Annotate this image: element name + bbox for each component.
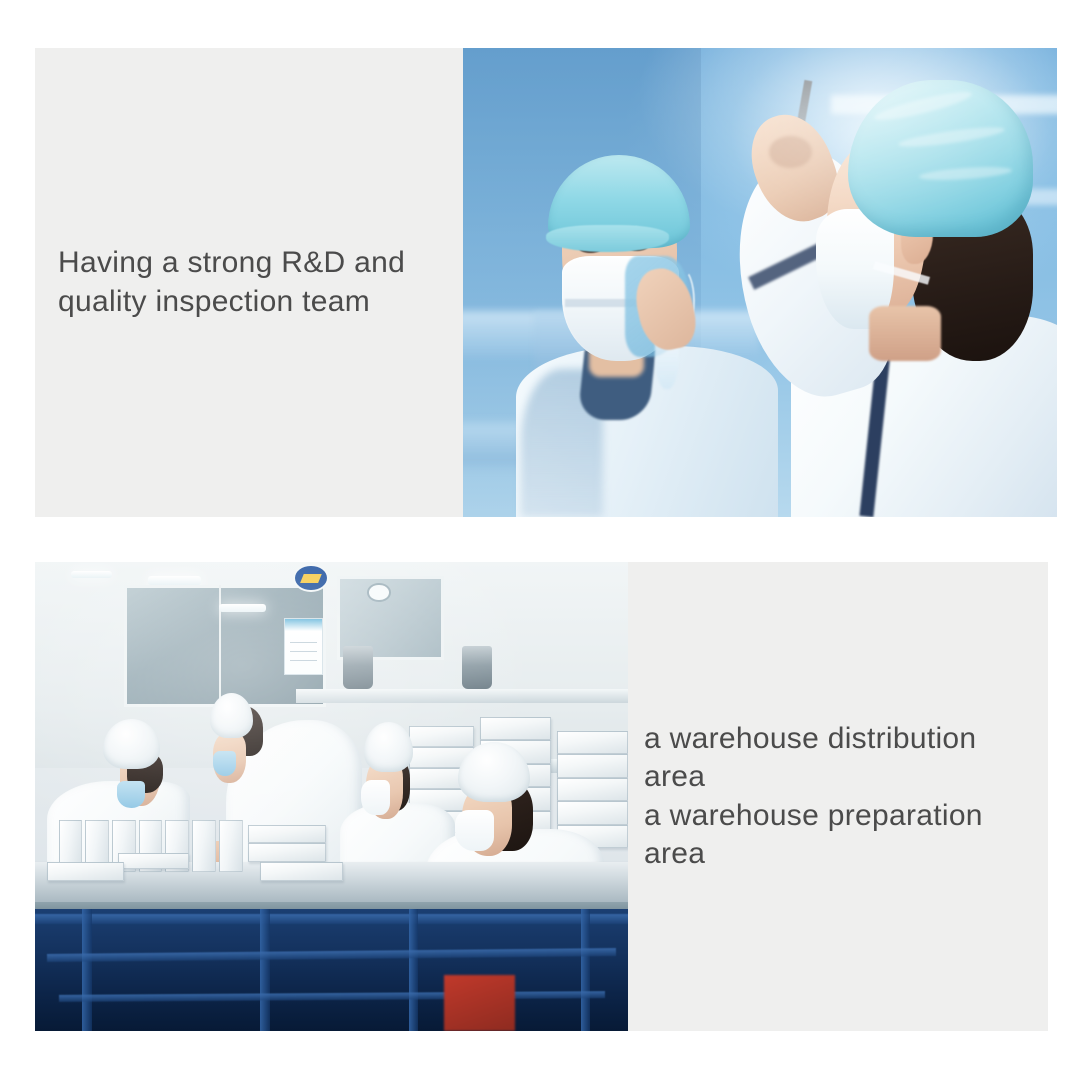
lab-technician-right	[712, 57, 1057, 517]
worker-foreground-right-face-mask	[455, 810, 494, 851]
caption-panel-rd-quality: Having a strong R&D and quality inspecti…	[35, 48, 463, 517]
carton-flat	[118, 853, 189, 869]
table-rail-1	[35, 914, 628, 924]
caption-panel-warehouse: a warehouse distribution area a warehous…	[628, 562, 1048, 1031]
table-understructure	[35, 909, 628, 1031]
carton-flat	[260, 862, 343, 881]
notice-line-1	[290, 642, 317, 643]
section-warehouse: a warehouse distribution area a warehous…	[35, 562, 1048, 1031]
worker-left-hairnet-cap	[103, 719, 159, 769]
technician-right-fingers	[769, 136, 812, 168]
section-rd-quality: Having a strong R&D and quality inspecti…	[35, 48, 1057, 517]
table-leg-4	[581, 909, 590, 1031]
ceiling-lamp-1	[148, 576, 201, 584]
table-leg-1	[82, 909, 91, 1031]
photo-warehouse-packing	[35, 562, 628, 1031]
table-leg-2	[260, 909, 269, 1031]
ceiling-lamp-3	[71, 571, 113, 578]
ceiling-lamp-2	[219, 604, 266, 612]
carton-flat	[248, 843, 325, 862]
wall-sign-icon	[293, 564, 329, 592]
worker-bending-face-mask	[213, 751, 236, 776]
steel-container-2	[462, 646, 492, 688]
carton-upright	[219, 820, 243, 872]
notice-line-3	[290, 660, 317, 661]
page-root: Having a strong R&D and quality inspecti…	[0, 0, 1080, 1080]
wall-notice-board	[284, 618, 323, 674]
red-crate-under-table	[444, 975, 515, 1031]
photo-laboratory-quality-inspection	[463, 48, 1057, 517]
caption-rd-quality: Having a strong R&D and quality inspecti…	[58, 244, 405, 320]
worker-center-hairnet-cap	[364, 722, 414, 772]
technician-left-cap-brim	[546, 225, 669, 252]
wall-clock-icon	[367, 583, 391, 602]
carton-flat	[47, 862, 124, 881]
notice-line-2	[290, 651, 317, 652]
carton-upright	[192, 820, 216, 872]
worker-center-face-mask	[361, 780, 390, 815]
worker-foreground-right-hairnet-cap	[458, 742, 529, 802]
caption-warehouse: a warehouse distribution area a warehous…	[644, 720, 1040, 872]
worker-bending-hairnet-cap	[210, 693, 253, 738]
table-leg-3	[409, 909, 418, 1031]
worker-left-face-mask	[117, 781, 145, 808]
technician-right-neck	[869, 306, 940, 361]
carton-flat	[248, 825, 325, 844]
